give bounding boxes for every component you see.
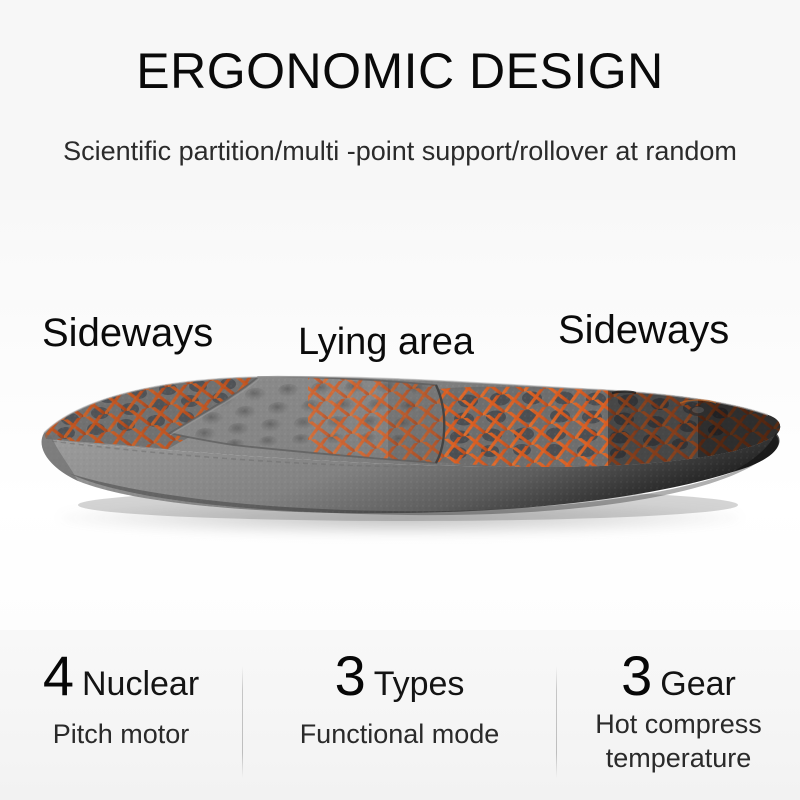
product-stage: Sideways Lying area Sideways YourN [0, 200, 800, 630]
stat-item-pitch-motor: 4Nuclear Pitch motor [0, 630, 242, 800]
stat-item-hot-compress: 3Gear Hot compress temperature [557, 630, 800, 800]
page-subtitle: Scientific partition/multi -point suppor… [0, 138, 800, 165]
stat-number-1: 4 [43, 644, 74, 707]
stat-headline-1: 4Nuclear [0, 648, 242, 704]
stat-unit-3: Gear [660, 665, 736, 703]
stat-item-functional-mode: 3Types Functional mode [243, 630, 556, 800]
page-title: ERGONOMIC DESIGN [0, 46, 800, 96]
product-infographic-page: ERGONOMIC DESIGN Scientific partition/mu… [0, 0, 800, 800]
header-section: ERGONOMIC DESIGN Scientific partition/mu… [0, 0, 800, 200]
stat-headline-2: 3Types [243, 648, 556, 704]
stat-headline-3: 3Gear [557, 648, 800, 704]
stats-section: 4Nuclear Pitch motor 3Types Functional m… [0, 630, 800, 800]
stat-number-2: 3 [335, 644, 366, 707]
region-label-lying-area: Lying area [298, 323, 474, 361]
stat-unit-1: Nuclear [82, 665, 199, 703]
region-label-sideways-left: Sideways [42, 313, 213, 353]
stat-description-2: Functional mode [243, 718, 556, 752]
stat-number-3: 3 [621, 644, 652, 707]
product-image-massage-mattress [8, 355, 792, 535]
stat-description-3: Hot compress temperature [557, 708, 800, 776]
region-label-sideways-right: Sideways [558, 310, 729, 350]
stat-description-1: Pitch motor [0, 718, 242, 752]
stat-unit-2: Types [374, 665, 465, 703]
